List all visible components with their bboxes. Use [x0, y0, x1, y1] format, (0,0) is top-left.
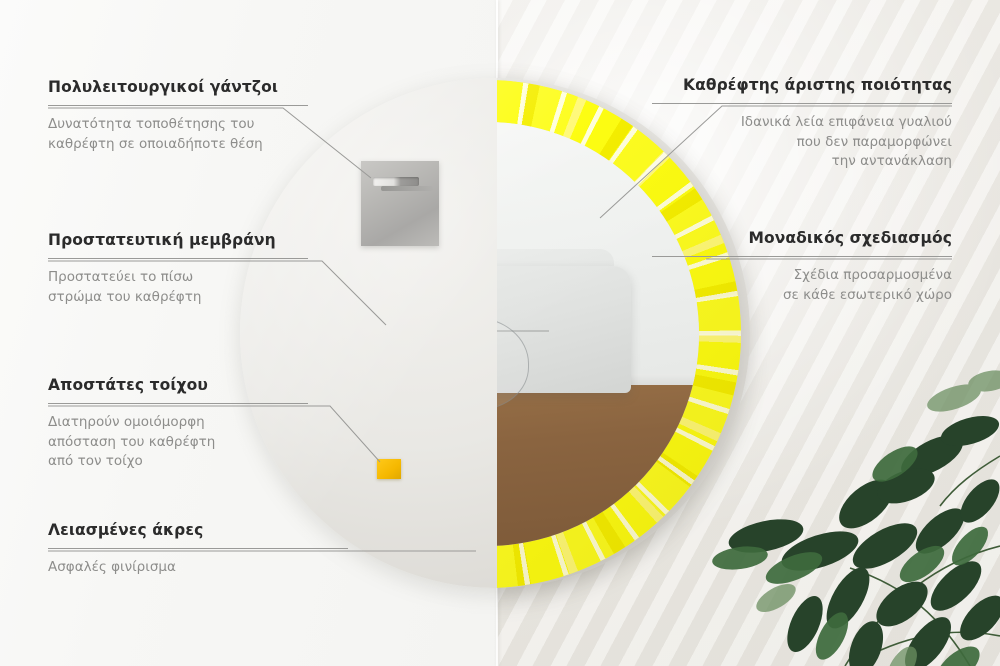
- mirror-glass: [497, 122, 699, 546]
- callout-membrane-title: Προστατευτική μεμβράνη: [48, 231, 308, 249]
- callout-spacers-desc: Διατηρούν ομοιόμορφη απόσταση του καθρέφ…: [48, 413, 308, 472]
- hanger-slot-shadow: [381, 186, 433, 191]
- callout-quality-mirror-rule: [652, 103, 952, 104]
- callout-quality-mirror-title: Καθρέφτης άριστης ποιότητας: [652, 76, 952, 94]
- callout-hooks-desc: Δυνατότητα τοποθέτησης του καθρέφτη σε ο…: [48, 115, 308, 154]
- callout-hooks-title: Πολυλειτουργικοί γάντζοι: [48, 78, 308, 96]
- callout-membrane: Προστατευτική μεμβράνη Προστατεύει το πί…: [48, 231, 308, 307]
- callout-spacers-rule: [48, 403, 308, 404]
- callout-edges-rule: [48, 548, 348, 549]
- callout-spacers-title: Αποστάτες τοίχου: [48, 376, 308, 394]
- callout-membrane-desc: Προστατεύει το πίσω στρώμα του καθρέφτη: [48, 268, 308, 307]
- callout-edges: Λειασμένες άκρες Ασφαλές φινίρισμα: [48, 521, 348, 578]
- callout-edges-desc: Ασφαλές φινίρισμα: [48, 558, 348, 578]
- callout-unique-design: Μοναδικός σχεδιασμός Σχέδια προσαρμοσμέν…: [652, 229, 952, 305]
- hanger-plate-icon: [361, 161, 439, 246]
- callout-unique-design-desc: Σχέδια προσαρμοσμένα σε κάθε εσωτερικό χ…: [652, 266, 952, 305]
- callout-unique-design-rule: [652, 256, 952, 257]
- callout-hooks-rule: [48, 105, 308, 106]
- callout-quality-mirror: Καθρέφτης άριστης ποιότητας Ιδανικά λεία…: [652, 76, 952, 172]
- callout-hooks: Πολυλειτουργικοί γάντζοι Δυνατότητα τοπο…: [48, 78, 308, 154]
- callout-spacers: Αποστάτες τοίχου Διατηρούν ομοιόμορφη απ…: [48, 376, 308, 472]
- callout-edges-title: Λειασμένες άκρες: [48, 521, 348, 539]
- spacer-block-icon: [377, 459, 401, 479]
- callout-quality-mirror-desc: Ιδανικά λεία επιφάνεια γυαλιού που δεν π…: [652, 113, 952, 172]
- callout-unique-design-title: Μοναδικός σχεδιασμός: [652, 229, 952, 247]
- glass-sheen: [497, 122, 699, 546]
- callout-membrane-rule: [48, 258, 308, 259]
- hanger-slot: [373, 177, 419, 186]
- infographic-canvas: Πολυλειτουργικοί γάντζοι Δυνατότητα τοπο…: [0, 0, 1000, 666]
